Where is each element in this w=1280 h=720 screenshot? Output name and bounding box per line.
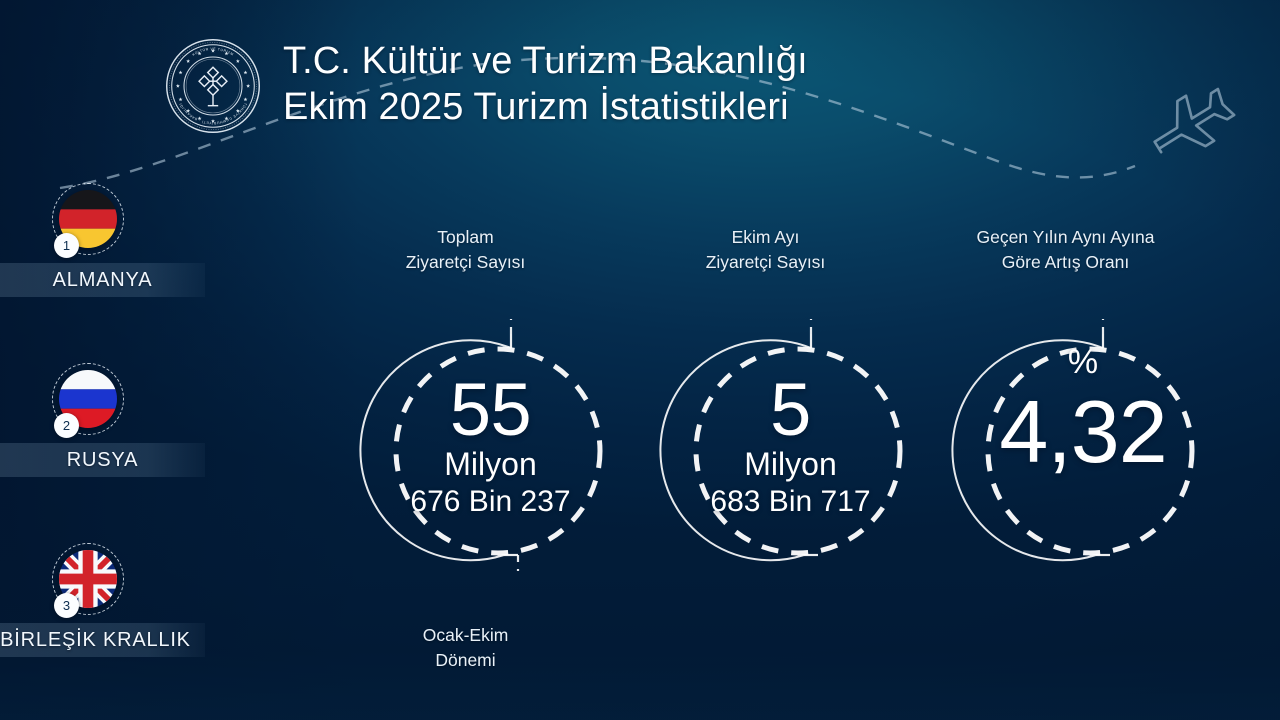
stat-caption-top: Geçen Yılın Aynı Ayına Göre Artış Oranı	[918, 225, 1213, 275]
stat-caption-top-line1: Geçen Yılın Aynı Ayına	[918, 225, 1213, 250]
page-title-line1: T.C. Kültür ve Turizm Bakanlığı	[283, 39, 808, 83]
stat-ring-graphic	[646, 293, 936, 593]
stat-ring-graphic	[938, 293, 1228, 593]
top-countries-sidebar: 1 ALMANYA 2 RUSYA	[0, 183, 230, 720]
country-item-rusya[interactable]: 2 RUSYA	[0, 363, 230, 543]
country-name-label: BİRLEŞİK KRALLIK	[0, 629, 191, 652]
stat-caption-top-line2: Ziyaretçi Sayısı	[318, 250, 613, 275]
stat-card-artis-orani: Geçen Yılın Aynı Ayına Göre Artış Oranı …	[918, 225, 1213, 695]
country-name-bar: RUSYA	[0, 443, 205, 477]
stat-caption-top-line1: Toplam	[318, 225, 613, 250]
stat-caption-bottom-line2: Dönemi	[318, 648, 613, 673]
country-name-bar: BİRLEŞİK KRALLIK	[0, 623, 205, 657]
country-item-almanya[interactable]: 1 ALMANYA	[0, 183, 230, 363]
tc-kultur-turizm-bakanligi-emblem: KÜLTÜR VE TURİZM TÜRKİYE CUMHURİYETİ · B…	[165, 38, 261, 134]
stat-caption-top-line2: Göre Artış Oranı	[918, 250, 1213, 275]
stat-caption-top: Ekim Ayı Ziyaretçi Sayısı	[618, 225, 913, 275]
page-header: KÜLTÜR VE TURİZM TÜRKİYE CUMHURİYETİ · B…	[165, 38, 808, 134]
country-name-label: ALMANYA	[53, 269, 153, 292]
stat-caption-bottom-line1: Ocak-Ekim	[318, 623, 613, 648]
stat-caption-bottom: Ocak-Ekim Dönemi	[318, 623, 613, 673]
country-name-label: RUSYA	[67, 449, 138, 472]
header-titles: T.C. Kültür ve Turizm Bakanlığı Ekim 202…	[283, 39, 808, 133]
country-name-bar: ALMANYA	[0, 263, 205, 297]
stat-card-ekim-ayi-ziyaretci: Ekim Ayı Ziyaretçi Sayısı 5 Milyon 683 B…	[618, 225, 913, 695]
page-title-line2: Ekim 2025 Turizm İstatistikleri	[283, 85, 808, 129]
stat-ring: 55 Milyon 676 Bin 237	[366, 313, 616, 583]
stat-caption-top-line2: Ziyaretçi Sayısı	[618, 250, 913, 275]
rank-badge: 1	[54, 233, 79, 258]
statistics-panel: Toplam Ziyaretçi Sayısı 55 Milyon 676 Bi…	[318, 225, 1263, 695]
svg-text:KÜLTÜR VE TURİZM: KÜLTÜR VE TURİZM	[192, 47, 235, 57]
rank-badge: 3	[54, 593, 79, 618]
stat-ring-graphic	[346, 293, 636, 593]
stat-card-toplam-ziyaretci: Toplam Ziyaretçi Sayısı 55 Milyon 676 Bi…	[318, 225, 613, 695]
stat-caption-top-line1: Ekim Ayı	[618, 225, 913, 250]
stat-ring: % 4,32	[958, 313, 1208, 583]
country-item-birlesik-krallik[interactable]: 3 BİRLEŞİK KRALLIK	[0, 543, 230, 720]
rank-badge: 2	[54, 413, 79, 438]
stat-ring: 5 Milyon 683 Bin 717	[666, 313, 916, 583]
airplane-icon	[1143, 80, 1240, 168]
stat-caption-top: Toplam Ziyaretçi Sayısı	[318, 225, 613, 275]
